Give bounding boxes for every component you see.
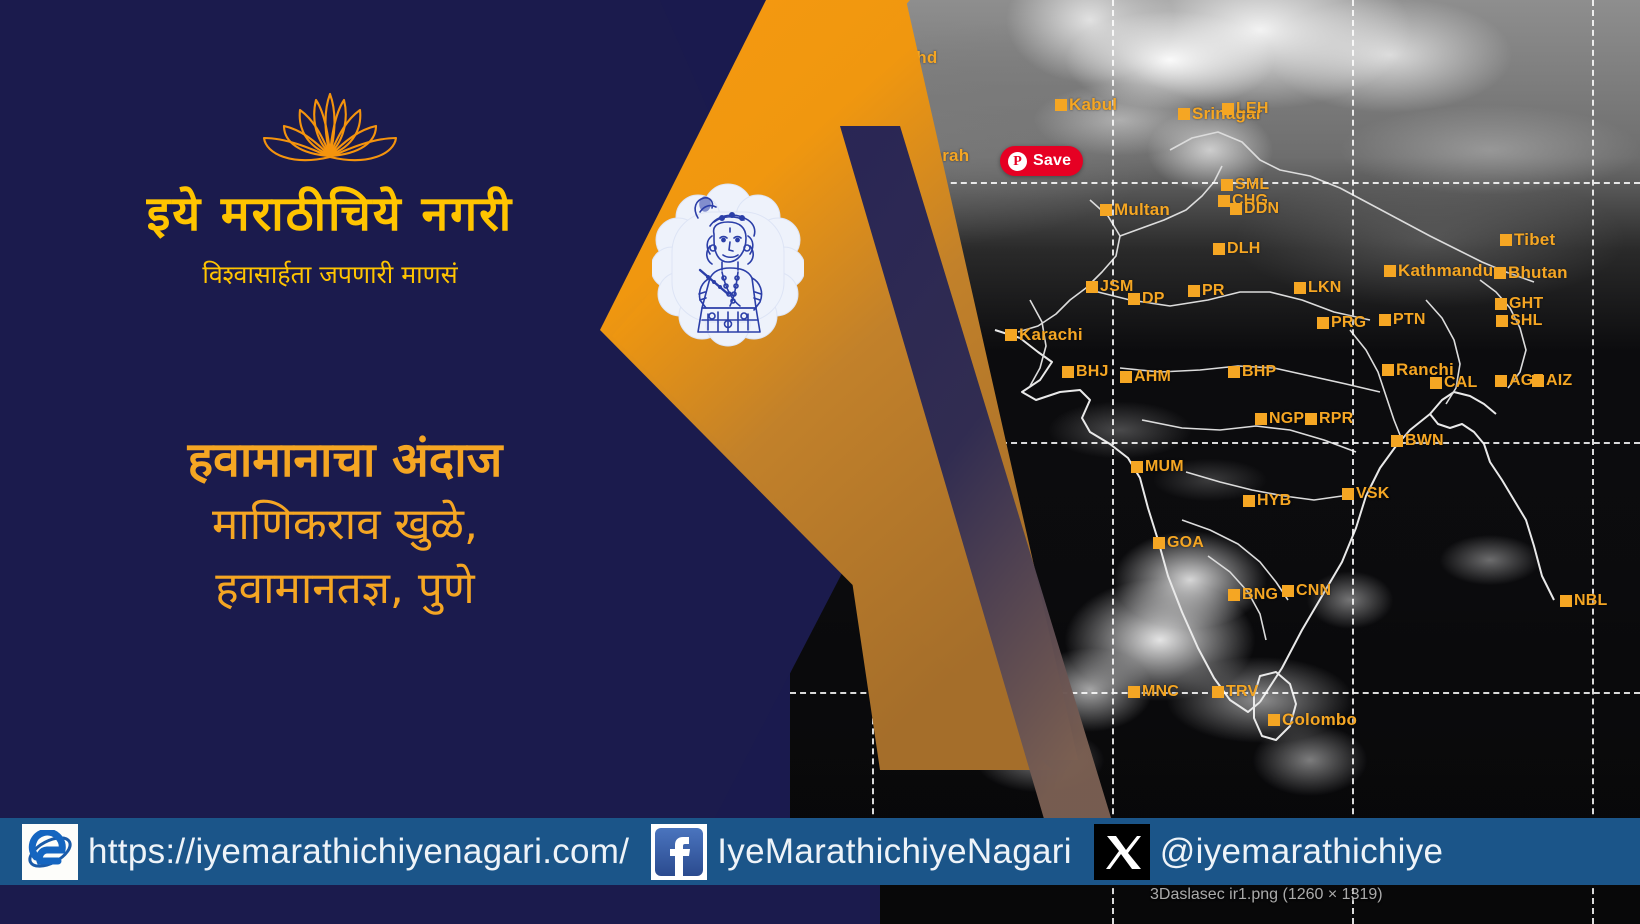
city-marker: PRG <box>1317 314 1366 332</box>
city-dot-icon <box>1062 366 1074 378</box>
city-marker: Tibet <box>1500 230 1555 250</box>
city-marker: LEH <box>1222 100 1269 118</box>
city-dot-icon <box>1342 488 1354 500</box>
pinterest-save-label: Save <box>1033 152 1071 170</box>
city-label: VSK <box>1356 485 1390 503</box>
city-dot-icon <box>1384 265 1396 277</box>
file-watermark: 3Daslasec ir1.png (1260 × 1319) <box>1150 886 1383 904</box>
city-dot-icon <box>1128 686 1140 698</box>
city-dot-icon <box>1243 495 1255 507</box>
city-marker: GHT <box>1495 295 1543 313</box>
city-dot-icon <box>1532 375 1544 387</box>
city-dot-icon <box>1495 375 1507 387</box>
brand-tagline: विश्वासार्हता जपणारी माणसं <box>0 257 660 291</box>
city-dot-icon <box>1560 595 1572 607</box>
city-label: NBL <box>1574 592 1607 610</box>
internet-explorer-icon <box>22 824 78 880</box>
city-dot-icon <box>1128 293 1140 305</box>
city-marker: DP <box>1128 290 1165 308</box>
city-marker: BWN <box>1391 432 1444 450</box>
city-dot-icon <box>1500 234 1512 246</box>
city-label: LEH <box>1236 100 1269 118</box>
pinterest-icon: P <box>1008 152 1027 171</box>
city-dot-icon <box>1086 281 1098 293</box>
city-dot-icon <box>1228 589 1240 601</box>
krishna-avatar <box>652 182 804 347</box>
city-dot-icon <box>1430 377 1442 389</box>
city-marker: VSK <box>1342 485 1390 503</box>
city-dot-icon <box>908 150 920 162</box>
facebook-icon <box>651 824 707 880</box>
social-item-facebook[interactable]: IyeMarathichiyeNagari <box>629 818 1072 885</box>
city-dot-icon <box>830 362 842 374</box>
social-item-website[interactable]: https://iyemarathichiyenagari.com/ <box>0 818 629 885</box>
city-dot-icon <box>1282 585 1294 597</box>
brand-header: इये मराठीचिये नगरी विश्वासार्हता जपणारी … <box>0 0 660 291</box>
city-dot-icon <box>1153 537 1165 549</box>
city-marker: Mashhd <box>858 48 937 68</box>
city-marker: BHP <box>1228 363 1276 381</box>
city-label: PRG <box>1331 314 1366 332</box>
city-dot-icon <box>1100 204 1112 216</box>
poster-canvas: MashhdKabulFarahSrinagarLEHMultanSMLCHGD… <box>0 0 1640 924</box>
city-marker: Bhutan <box>1494 263 1568 283</box>
city-marker: SHL <box>1496 312 1543 330</box>
city-dot-icon <box>1222 103 1234 115</box>
city-label: DLH <box>1227 240 1260 258</box>
city-label: NGP <box>1269 410 1304 428</box>
city-marker: HYB <box>1243 492 1291 510</box>
social-item-x[interactable]: @iyemarathichiye <box>1072 818 1443 885</box>
city-marker: Kathmandu <box>1384 261 1493 281</box>
city-label: GHT <box>1509 295 1543 313</box>
city-marker: TRV <box>1212 683 1258 701</box>
city-marker: Kabul <box>1055 95 1117 115</box>
city-label: Colombo <box>1282 710 1357 730</box>
city-marker: NBL <box>1560 592 1607 610</box>
city-marker: BNG <box>1228 586 1278 604</box>
city-marker: Muscat <box>830 358 904 378</box>
city-label: Kabul <box>1069 95 1117 115</box>
x-twitter-icon <box>1094 824 1150 880</box>
city-label: BNG <box>1242 586 1278 604</box>
city-label: BHJ <box>1076 363 1109 381</box>
city-marker: DDN <box>1230 200 1279 218</box>
city-label: TRV <box>1226 683 1258 701</box>
city-dot-icon <box>1120 371 1132 383</box>
city-dot-icon <box>1268 714 1280 726</box>
city-marker: CAL <box>1430 374 1477 392</box>
city-marker: GOA <box>1153 534 1204 552</box>
city-label: DP <box>1142 290 1165 308</box>
city-label: PR <box>1202 282 1225 300</box>
city-label: BWN <box>1405 432 1444 450</box>
city-dot-icon <box>1230 203 1242 215</box>
city-dot-icon <box>1218 195 1230 207</box>
pinterest-save-button[interactable]: P Save <box>1000 146 1083 176</box>
city-dot-icon <box>1495 298 1507 310</box>
city-label: MUM <box>1145 458 1184 476</box>
city-dot-icon <box>1496 315 1508 327</box>
krishna-avatar-icon <box>652 182 804 347</box>
city-dot-icon <box>1228 366 1240 378</box>
city-dot-icon <box>1294 282 1306 294</box>
headline-block: हवामानाचा अंदाज माणिकराव खुळे, हवामानतज्… <box>0 432 690 618</box>
city-label: DDN <box>1244 200 1279 218</box>
lotus-icon <box>230 88 430 178</box>
city-label: AHM <box>1134 368 1171 386</box>
city-dot-icon <box>1188 285 1200 297</box>
city-dot-icon <box>1055 99 1067 111</box>
headline-primary: हवामानाचा अंदाज <box>0 432 690 490</box>
city-label: CAL <box>1444 374 1477 392</box>
city-label: Farah <box>922 146 969 166</box>
headline-credential: हवामानतज्ञ, पुणे <box>0 560 690 618</box>
city-marker: NGP <box>1255 410 1304 428</box>
city-marker: LKN <box>1294 279 1341 297</box>
city-dot-icon <box>1494 267 1506 279</box>
city-label: SHL <box>1510 312 1543 330</box>
city-dot-icon <box>1221 179 1233 191</box>
city-label: HYB <box>1257 492 1291 510</box>
city-label: PTN <box>1393 311 1426 329</box>
city-dot-icon <box>1178 108 1190 120</box>
city-marker: Multan <box>1100 200 1170 220</box>
page-title: इये मराठीचिये नगरी <box>0 188 660 241</box>
city-label: Kathmandu <box>1398 261 1493 281</box>
city-label: CNN <box>1296 582 1331 600</box>
city-marker: MNC <box>1128 683 1179 701</box>
social-links-bar: https://iyemarathichiyenagari.com/ IyeMa… <box>0 818 1640 885</box>
city-marker: Karachi <box>1005 325 1083 345</box>
map-vector-overlay <box>790 0 1640 924</box>
city-dot-icon <box>1131 461 1143 473</box>
city-label: MNC <box>1142 683 1179 701</box>
city-dot-icon <box>858 52 870 64</box>
city-marker: DLH <box>1213 240 1260 258</box>
city-marker: CNN <box>1282 582 1331 600</box>
city-marker: BHJ <box>1062 363 1109 381</box>
city-dot-icon <box>1305 413 1317 425</box>
city-label: AIZ <box>1546 372 1572 390</box>
facebook-handle-label: IyeMarathichiyeNagari <box>717 832 1072 872</box>
city-marker: Farah <box>908 146 969 166</box>
city-label: Mashhd <box>872 48 937 68</box>
city-dot-icon <box>1317 317 1329 329</box>
city-label: BHP <box>1242 363 1276 381</box>
website-url-label: https://iyemarathichiyenagari.com/ <box>88 832 629 872</box>
city-marker: PR <box>1188 282 1225 300</box>
satellite-map: MashhdKabulFarahSrinagarLEHMultanSMLCHGD… <box>790 0 1640 924</box>
city-label: Multan <box>1114 200 1170 220</box>
city-marker: Colombo <box>1268 710 1357 730</box>
city-label: Tibet <box>1514 230 1555 250</box>
city-label: GOA <box>1167 534 1204 552</box>
city-dot-icon <box>1379 314 1391 326</box>
x-handle-label: @iyemarathichiye <box>1160 832 1443 872</box>
city-marker: AHM <box>1120 368 1171 386</box>
city-marker: JSM <box>1086 278 1134 296</box>
city-label: LKN <box>1308 279 1341 297</box>
city-label: Karachi <box>1019 325 1083 345</box>
city-marker: MUM <box>1131 458 1184 476</box>
city-dot-icon <box>1391 435 1403 447</box>
headline-author: माणिकराव खुळे, <box>0 496 690 554</box>
city-marker: AIZ <box>1532 372 1572 390</box>
city-dot-icon <box>1005 329 1017 341</box>
city-dot-icon <box>1212 686 1224 698</box>
city-label: RPR <box>1319 410 1353 428</box>
city-label: Muscat <box>844 358 904 378</box>
city-dot-icon <box>1213 243 1225 255</box>
bottom-navy-sliver <box>0 885 880 924</box>
city-dot-icon <box>1255 413 1267 425</box>
city-marker: PTN <box>1379 311 1426 329</box>
city-dot-icon <box>1382 364 1394 376</box>
city-marker: RPR <box>1305 410 1353 428</box>
city-label: Bhutan <box>1508 263 1568 283</box>
